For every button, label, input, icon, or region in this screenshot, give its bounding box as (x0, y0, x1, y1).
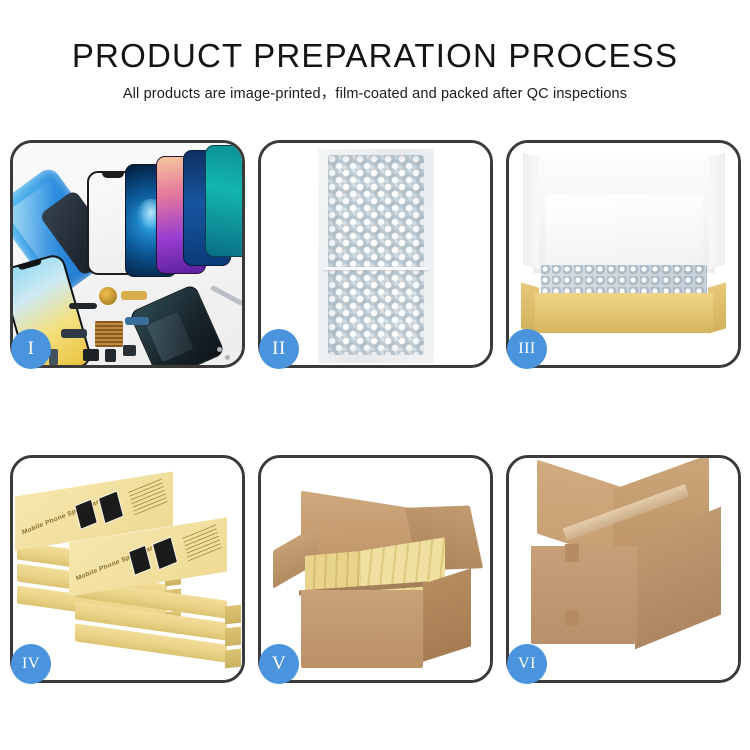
page-title: PRODUCT PREPARATION PROCESS (0, 36, 750, 76)
phone-teal-display (205, 145, 242, 257)
bubble-wrap-seam (324, 267, 428, 270)
product-preparation-infographic: PRODUCT PREPARATION PROCESS All products… (0, 0, 750, 750)
step-badge-1: I (11, 329, 51, 369)
step-badge-3: III (507, 329, 547, 369)
page-subtitle: All products are image-printed，film-coat… (0, 85, 750, 103)
step-badge-2: II (259, 329, 299, 369)
bubble-wrap-sheet (328, 155, 424, 355)
part-screw (225, 355, 230, 360)
process-steps-grid: I II III (10, 140, 742, 683)
step-panel-3: III (506, 140, 741, 368)
part-flex-cable-dark (61, 329, 87, 338)
part-flex-cable-gold (121, 291, 147, 300)
open-carton-image (261, 458, 490, 680)
carton-front-panel (531, 546, 637, 644)
phone-parts-image (13, 143, 242, 365)
part-speaker (83, 349, 99, 361)
part-screw (217, 347, 222, 352)
step-badge-6: VI (507, 644, 547, 684)
carton-side-panel (423, 568, 471, 662)
box-front-panel (535, 293, 713, 333)
step-panel-1: I (10, 140, 245, 368)
step-panel-4: Mobile Phone Spare Parts Mobile Phone Sp… (10, 455, 245, 683)
step-panel-2: II (258, 140, 493, 368)
part-camera-module (105, 349, 116, 362)
part-speaker-coil (99, 287, 117, 305)
carton-crease (565, 610, 579, 626)
carton-crease (565, 544, 579, 562)
part-tweezers (210, 285, 242, 306)
part-copper-grid (95, 321, 123, 347)
part-flex-cable-blue (125, 317, 149, 325)
foam-sheet (545, 195, 703, 265)
step-panel-6: VI (506, 455, 741, 683)
step-badge-4: IV (11, 644, 51, 684)
bubble-wrap-image (261, 143, 490, 365)
sealed-carton-image (509, 458, 738, 680)
step-panel-5: V (258, 455, 493, 683)
carton-front-panel (301, 590, 423, 668)
inner-box-image (509, 143, 738, 365)
part-strip (69, 303, 97, 309)
step-badge-5: V (259, 644, 299, 684)
part-sim-tray (123, 345, 136, 356)
header: PRODUCT PREPARATION PROCESS All products… (0, 36, 750, 103)
stacked-boxes-image: Mobile Phone Spare Parts Mobile Phone Sp… (13, 458, 242, 680)
